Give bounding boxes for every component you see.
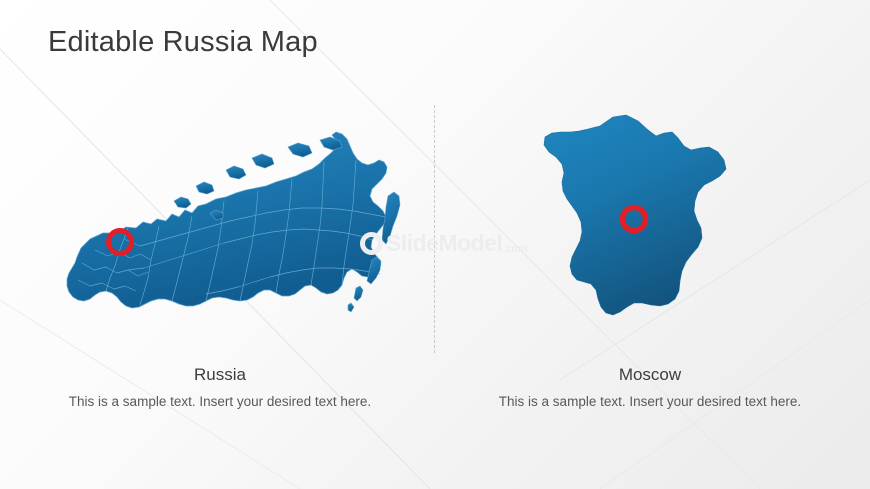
panel-moscow: Moscow This is a sample text. Insert you…: [450, 100, 850, 411]
moscow-oblast-shape: [544, 115, 726, 315]
map-area-moscow: [450, 100, 850, 355]
caption-russia: Russia This is a sample text. Insert you…: [20, 363, 420, 411]
moscow-oblast-map[interactable]: [450, 100, 850, 355]
caption-title-moscow: Moscow: [450, 363, 850, 387]
map-area-russia: [20, 100, 420, 355]
page-title: Editable Russia Map: [48, 26, 318, 59]
caption-moscow: Moscow This is a sample text. Insert you…: [450, 363, 850, 411]
caption-body-moscow: This is a sample text. Insert your desir…: [450, 392, 850, 411]
russia-country-map[interactable]: [20, 100, 420, 355]
panel-russia: Russia This is a sample text. Insert you…: [20, 100, 420, 411]
caption-body-russia: This is a sample text. Insert your desir…: [20, 392, 420, 411]
caption-title-russia: Russia: [20, 363, 420, 387]
russia-landmass: [67, 132, 387, 308]
panel-divider: [434, 105, 435, 353]
slide-canvas: Editable Russia Map: [0, 0, 870, 489]
